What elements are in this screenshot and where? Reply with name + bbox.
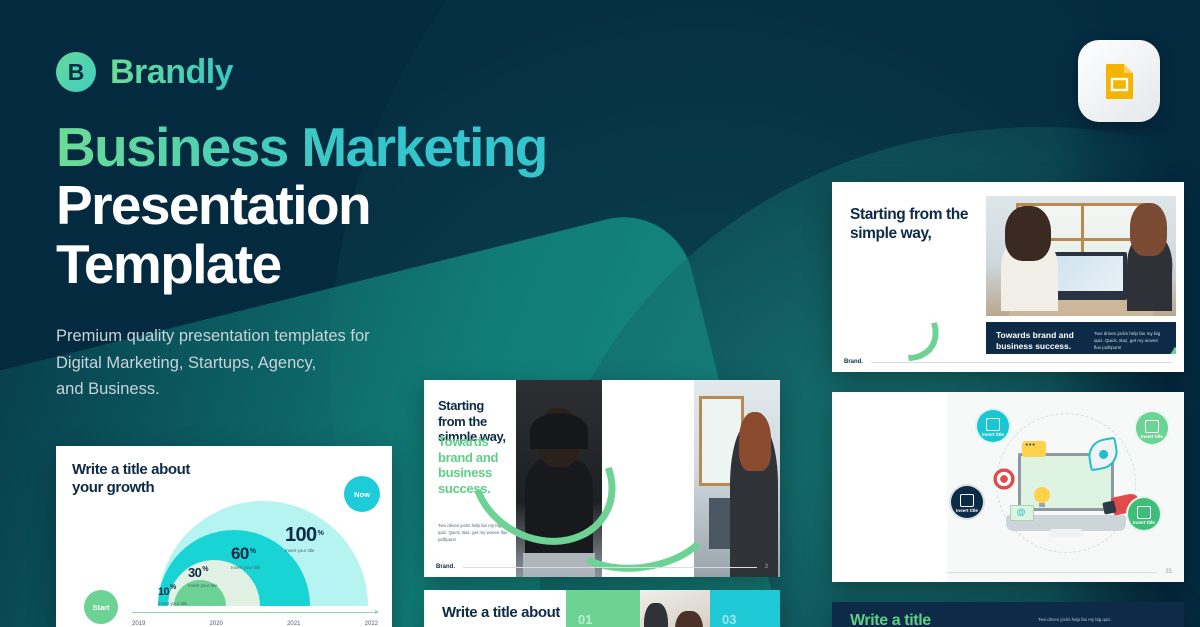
footer-brand: Brand. (436, 564, 455, 570)
unit-30: % (202, 566, 208, 573)
data-label-60: 60% Insert your title (231, 544, 261, 570)
promo-banner: B Brandly Business Marketing Presentatio… (0, 0, 1200, 627)
page-title-line-3: Template (56, 233, 281, 295)
slide-starting-top-panel: Towards brand and business success. Two … (986, 322, 1176, 354)
hero-section: B Brandly Business Marketing Presentatio… (56, 52, 696, 403)
data-sublabel-30: Insert your title (188, 583, 218, 588)
slide-dark-body-text: Two driven jocks help fax my big quiz. (1038, 616, 1168, 623)
insert-title-badge-4-label: Insert title (1133, 520, 1155, 525)
slide-numbered-title: Write a title about your (442, 604, 562, 627)
page-subtitle-line-1: Premium quality presentation templates f… (56, 327, 370, 345)
slide-promotion-left (832, 392, 947, 582)
insert-title-badge-2-label: Insert title (1141, 434, 1163, 439)
footer-rule (871, 362, 1172, 363)
slide-starting-top[interactable]: Starting from the simple way, Towards br… (832, 182, 1184, 372)
photo-person-left-hair (1005, 206, 1051, 261)
data-value-100: 100 (285, 524, 317, 546)
x-tick-2021: 2021 (287, 621, 300, 627)
slide-dark-title[interactable]: Write a title Two driven jocks help fax … (832, 602, 1184, 627)
data-label-100: 100% Insert your title (285, 524, 324, 553)
page-subtitle-line-3: and Business. (56, 380, 160, 398)
data-sublabel-10: Insert your title (158, 601, 188, 606)
photo-team-group (640, 590, 710, 627)
slide-starting-top-title: Starting from the simple way, (850, 206, 975, 243)
data-value-10: 10 (158, 586, 169, 598)
photo-laptop (1047, 252, 1127, 300)
lightbulb-icon (1034, 487, 1050, 503)
document-settings-icon (960, 494, 974, 507)
insert-title-badge-2[interactable]: Insert title (1134, 410, 1170, 446)
numbered-block-03-label: 03 (722, 612, 736, 627)
numbered-block-01-label: 01 (578, 612, 592, 627)
brand-logo-letter: B (68, 61, 85, 84)
page-title-line-2: Presentation (56, 174, 370, 236)
photo-team-person-1 (644, 603, 668, 627)
page-title: Business Marketing Presentation Template (56, 118, 696, 293)
data-label-10: 10% Insert your title (158, 582, 188, 606)
footer-rule (463, 567, 757, 568)
photo-woman-hair (739, 412, 772, 471)
document-chart-icon (1145, 420, 1159, 433)
slide-promotion[interactable]: Write a title about your promotion "75% … (832, 392, 1184, 582)
numbered-block-01: 01 (566, 590, 640, 627)
numbered-block-03: 03 (710, 590, 780, 627)
chart-x-axis (132, 612, 378, 613)
insert-title-badge-1[interactable]: Insert title (975, 408, 1011, 444)
unit-60: % (250, 548, 256, 555)
insert-title-badge-4[interactable]: Insert title (1126, 496, 1162, 532)
photo-person-right-hair (1130, 203, 1166, 256)
slide-dark-title-text: Write a title (850, 612, 931, 627)
badge-start: Start (84, 590, 118, 624)
insert-title-badge-1-label: Insert title (982, 432, 1004, 437)
page-subtitle-line-2: Digital Marketing, Startups, Agency, (56, 354, 316, 372)
footer-page-number: 3 (765, 564, 768, 570)
brand-name: Brandly (110, 53, 233, 92)
slide-starting-middle-footer: Brand. 3 (424, 564, 780, 570)
footer-page-number: 35 (1165, 569, 1172, 575)
brand-logo: B Brandly (56, 52, 696, 92)
page-subtitle: Premium quality presentation templates f… (56, 323, 456, 403)
data-sublabel-100: Insert your title (285, 548, 324, 553)
data-value-60: 60 (231, 544, 249, 563)
insert-title-badge-3[interactable]: Insert title (949, 484, 985, 520)
chart-x-tick-labels: 2019 2020 2021 2022 (132, 621, 378, 627)
google-slides-icon (1078, 40, 1160, 122)
x-tick-2022: 2022 (365, 621, 378, 627)
badge-now: Now (344, 476, 380, 512)
data-value-30: 30 (188, 565, 201, 580)
slide-growth-chart[interactable]: Write a title about your growth 100% Ins… (56, 446, 392, 627)
footer-brand: Brand. (844, 359, 863, 365)
insert-title-badge-3-label: Insert title (956, 508, 978, 513)
panel-title: Towards brand and business success. (996, 330, 1084, 346)
photo-two-women-laptop (986, 196, 1176, 316)
data-sublabel-60: Insert your title (231, 565, 261, 570)
data-label-30: 30% Insert your title (188, 564, 218, 588)
brand-logo-icon: B (56, 52, 96, 92)
chat-bubble-icon (1022, 441, 1046, 457)
slide-starting-top-footer: Brand. (832, 359, 1184, 365)
promotion-illustration: Insert title Insert title Insert title I… (947, 392, 1184, 582)
photo-team-person-2 (675, 611, 703, 627)
target-icon (992, 467, 1016, 491)
photo-woman-desk (694, 380, 780, 577)
presentation-board-icon (1137, 506, 1151, 519)
x-tick-2020: 2020 (210, 621, 223, 627)
x-tick-2019: 2019 (132, 621, 145, 627)
unit-10: % (170, 584, 176, 591)
slide-numbered-cards[interactable]: Write a title about your 01 03 (424, 590, 780, 627)
slide-starting-middle[interactable]: Starting from the simple way, Two driven… (424, 380, 780, 577)
page-title-line-1: Business Marketing (56, 116, 547, 178)
mobile-document-icon (986, 418, 1000, 431)
laptop-illustration (1006, 453, 1126, 537)
unit-100: % (318, 530, 324, 537)
email-envelope-icon (1010, 505, 1034, 521)
laptop-trackpad (1050, 529, 1082, 537)
